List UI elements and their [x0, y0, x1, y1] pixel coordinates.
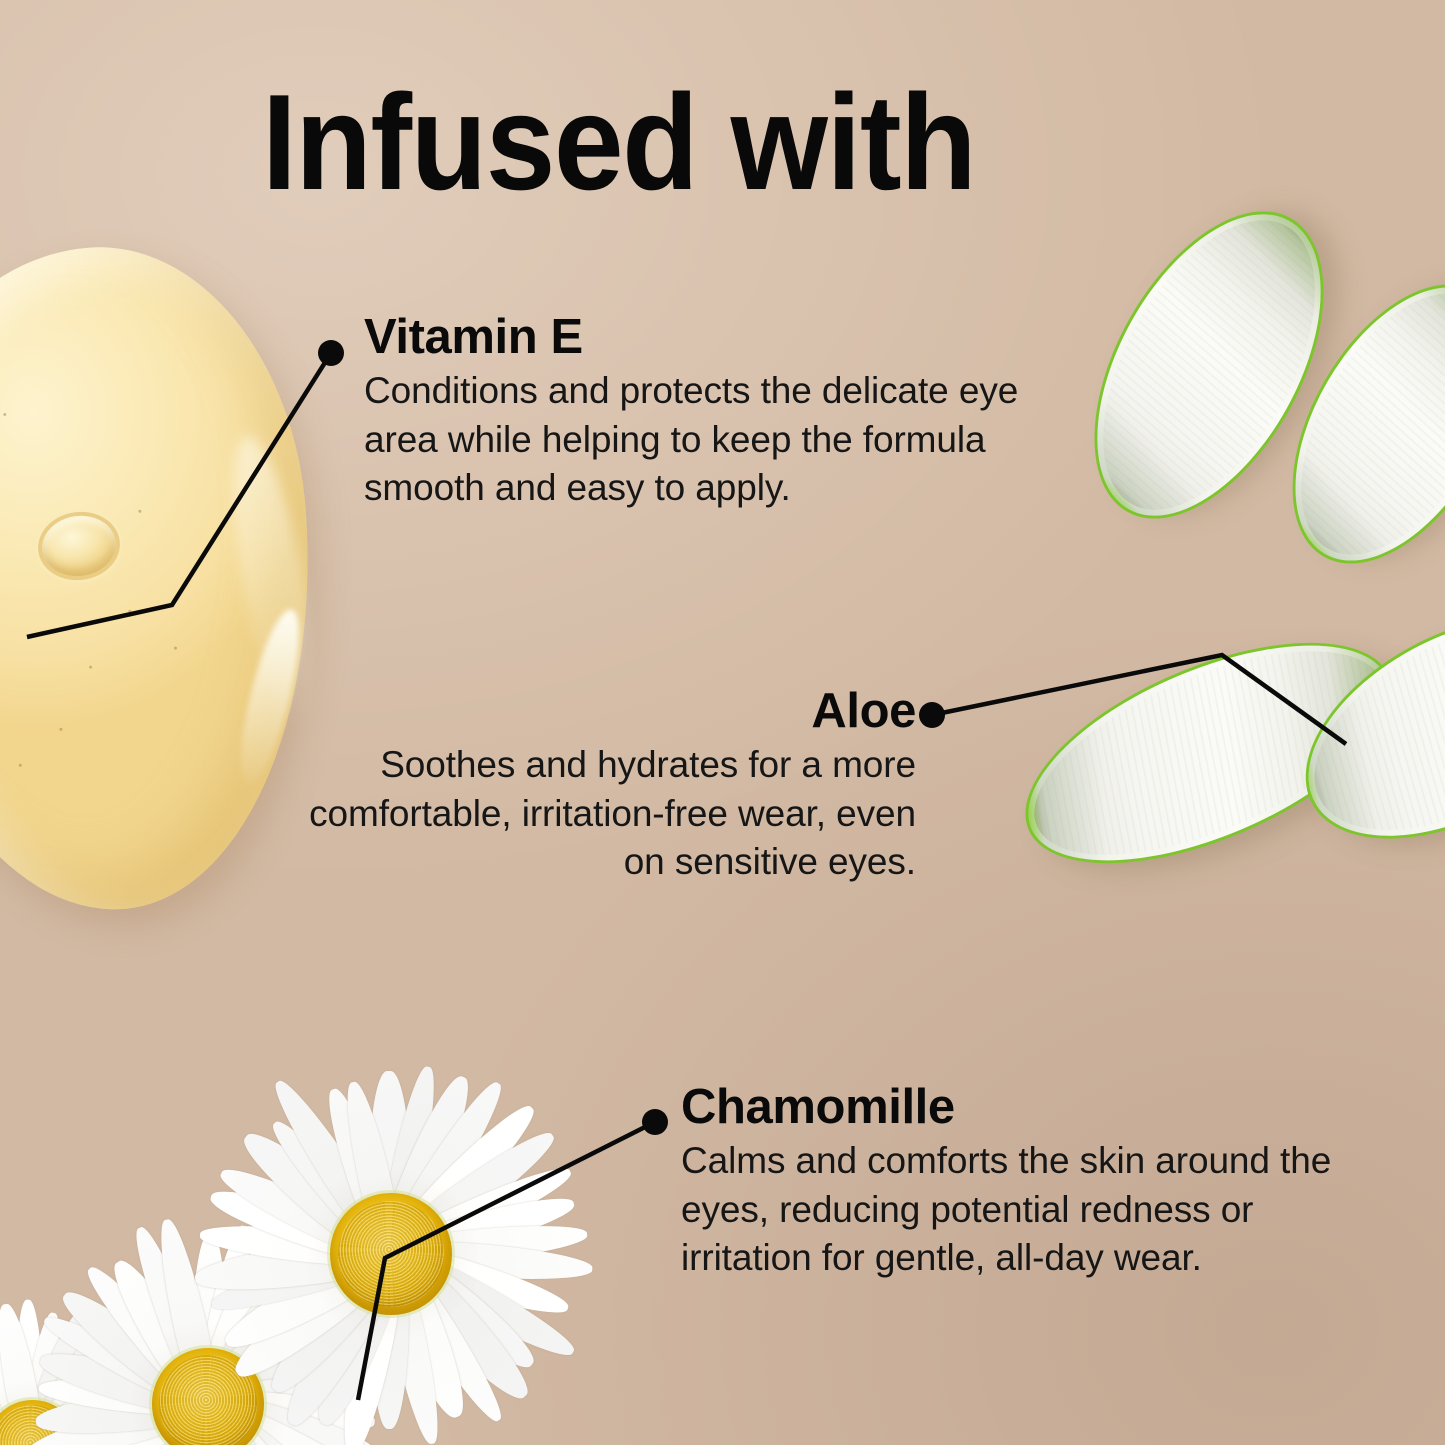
callout-vitamin-e: Vitamin E Conditions and protects the de… [364, 312, 1024, 513]
ingredient-infographic: Infused with Vitamin E Conditions and pr… [0, 0, 1445, 1445]
serum-edge-highlight [217, 431, 327, 728]
yellow-serum-drop-image [0, 248, 310, 910]
serum-body-shape [0, 234, 333, 924]
callout-chamomille: Chamomille Calms and comforts the skin a… [681, 1082, 1345, 1283]
callout-body-aloe: Soothes and hydrates for a more comforta… [296, 741, 916, 886]
callout-heading-aloe: Aloe [296, 686, 916, 737]
callout-aloe: Aloe Soothes and hydrates for a more com… [296, 686, 916, 887]
callout-heading-chamomille: Chamomille [681, 1082, 1345, 1133]
serum-speck [19, 763, 22, 766]
page-title: Infused with [262, 74, 975, 210]
chamomile-flower [195, 1058, 587, 1445]
serum-speck [59, 727, 62, 730]
serum-speck [3, 413, 6, 416]
aloe-vera-slices-image [1000, 270, 1445, 1030]
callout-body-chamomille: Calms and comforts the skin around the e… [681, 1137, 1345, 1282]
serum-speck [89, 666, 92, 669]
serum-speck [138, 509, 141, 512]
daisy-center-disc [330, 1193, 452, 1315]
leader-dot-vitamin-e [318, 340, 344, 366]
callout-body-vitamin-e: Conditions and protects the delicate eye… [364, 367, 1024, 512]
serum-speck [128, 610, 131, 613]
leader-dot-aloe [919, 702, 945, 728]
serum-speck [174, 646, 177, 649]
callout-heading-vitamin-e: Vitamin E [364, 312, 1024, 363]
leader-dot-chamomille [642, 1109, 668, 1135]
